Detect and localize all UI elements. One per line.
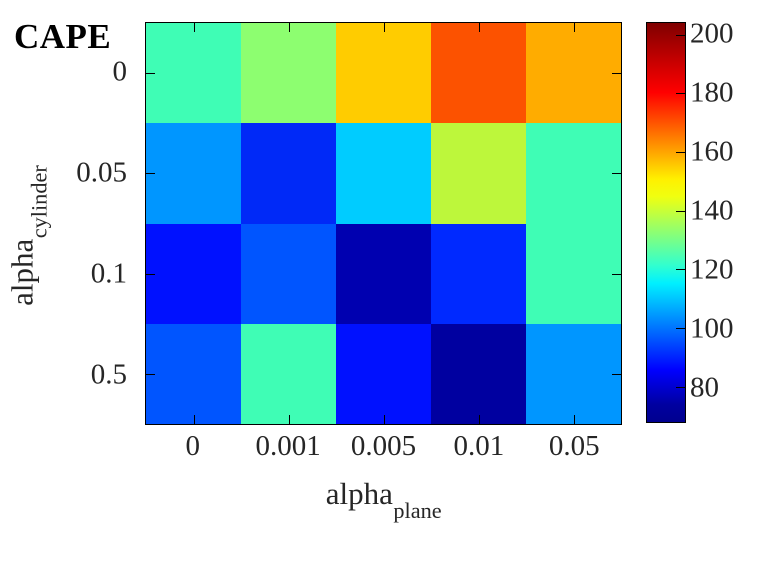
x-tick-mark (289, 415, 290, 424)
colorbar-gradient (647, 23, 685, 422)
y-axis-title-main: alpha (4, 239, 39, 306)
y-axis-title-subscript: cylinder (26, 165, 51, 238)
colorbar-tick-label: 180 (690, 78, 734, 107)
colorbar-tick-label: 140 (690, 196, 734, 225)
heatmap-cell[interactable] (526, 123, 621, 223)
colorbar-ticklabels: 20018016014012010080 (690, 22, 778, 423)
colorbar-tick-mark (676, 152, 685, 153)
colorbar[interactable] (646, 22, 686, 423)
colorbar-tick-mark (676, 387, 685, 388)
y-tick-label: 0.5 (91, 360, 127, 389)
x-axis-title-main: alpha (326, 476, 393, 511)
y-tick-mark (146, 274, 155, 275)
x-tick-label: 0.05 (549, 432, 600, 461)
heatmap-cell[interactable] (336, 123, 431, 223)
heatmap-cell[interactable] (146, 324, 241, 424)
y-tick-mark (612, 73, 621, 74)
x-tick-mark (289, 23, 290, 32)
heatmap-cell[interactable] (336, 23, 431, 123)
heatmap-cell[interactable] (431, 324, 526, 424)
heatmap-cell[interactable] (336, 224, 431, 324)
heatmap-cell[interactable] (431, 123, 526, 223)
x-tick-mark (574, 415, 575, 424)
heatmap-axes[interactable] (145, 22, 622, 425)
y-tick-label: 0.1 (91, 259, 127, 288)
x-tick-mark (479, 415, 480, 424)
colorbar-tick-label: 100 (690, 314, 734, 343)
colorbar-tick-label: 160 (690, 137, 734, 166)
x-axis-title-subscript: plane (393, 498, 441, 523)
colorbar-tick-label: 80 (690, 373, 719, 402)
x-axis-ticklabels: 00.0010.0050.010.05 (145, 432, 622, 472)
colorbar-tick-mark (676, 211, 685, 212)
heatmap-cell[interactable] (526, 23, 621, 123)
y-tick-mark (146, 73, 155, 74)
colorbar-tick-label: 120 (690, 255, 734, 284)
y-tick-mark (146, 374, 155, 375)
heatmap-cell[interactable] (241, 23, 336, 123)
x-tick-mark (574, 23, 575, 32)
heatmap-cell[interactable] (241, 324, 336, 424)
heatmap-cell[interactable] (146, 224, 241, 324)
figure-canvas: CAPE 00.050.10.5 00.0010.0050.010.05 alp… (0, 0, 780, 564)
heatmap-cell[interactable] (146, 23, 241, 123)
x-tick-label: 0.001 (255, 432, 320, 461)
heatmap-cell[interactable] (526, 224, 621, 324)
x-tick-mark (194, 23, 195, 32)
heatmap-cell[interactable] (146, 123, 241, 223)
heatmap-cell[interactable] (241, 224, 336, 324)
y-tick-mark (612, 173, 621, 174)
x-tick-mark (479, 23, 480, 32)
colorbar-tick-mark (676, 328, 685, 329)
x-tick-mark (384, 415, 385, 424)
y-tick-mark (612, 274, 621, 275)
y-tick-mark (146, 173, 155, 174)
heatmap-grid (146, 23, 621, 424)
x-tick-label: 0.005 (351, 432, 416, 461)
y-tick-label: 0 (113, 58, 128, 87)
colorbar-tick-mark (676, 269, 685, 270)
y-tick-mark (612, 374, 621, 375)
x-tick-mark (384, 23, 385, 32)
colorbar-tick-label: 200 (690, 19, 734, 48)
heatmap-cell[interactable] (431, 23, 526, 123)
colorbar-tick-mark (676, 93, 685, 94)
y-tick-label: 0.05 (76, 159, 127, 188)
colorbar-tick-mark (676, 35, 685, 36)
heatmap-cell[interactable] (431, 224, 526, 324)
x-tick-label: 0 (185, 432, 200, 461)
heatmap-cell[interactable] (241, 123, 336, 223)
y-axis-title: alphacylinder (6, 26, 44, 446)
heatmap-cell[interactable] (526, 324, 621, 424)
x-tick-label: 0.01 (454, 432, 505, 461)
x-tick-mark (194, 415, 195, 424)
heatmap-cell[interactable] (336, 324, 431, 424)
x-axis-title: alphaplane (145, 478, 622, 516)
